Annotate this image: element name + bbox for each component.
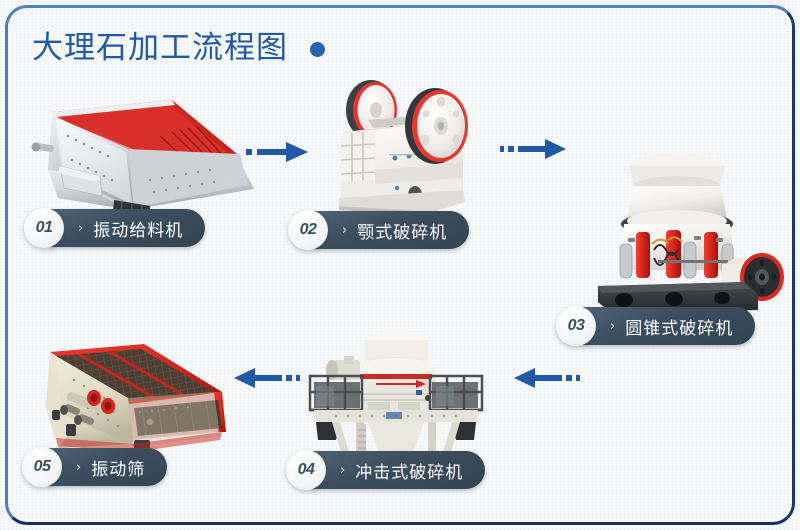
badge-step-05[interactable]: 05 › 振动筛 xyxy=(22,448,167,486)
badge-number-04: 04 xyxy=(286,450,326,490)
badge-label-05-container: › 振动筛 xyxy=(48,448,167,486)
machine-cone-crusher xyxy=(562,152,790,314)
badge-label-03: 圆锥式破碎机 xyxy=(625,314,733,339)
flowchart-canvas: 大理石加工流程图 xyxy=(0,0,800,530)
badge-label-04-container: › 冲击式破碎机 xyxy=(312,451,485,489)
chevron-right-icon: › xyxy=(342,224,348,237)
badge-label-01: 振动给料机 xyxy=(93,216,183,241)
machine-jaw-crusher xyxy=(313,70,488,215)
chevron-right-icon: › xyxy=(610,320,616,333)
chevron-right-icon: › xyxy=(78,222,84,235)
badge-step-01[interactable]: 01 › 振动给料机 xyxy=(24,209,205,247)
badge-number-05: 05 xyxy=(22,447,62,487)
badge-label-01-container: › 振动给料机 xyxy=(50,209,205,247)
arrow-step3-to-step4 xyxy=(508,365,580,396)
badge-label-05: 振动筛 xyxy=(91,455,145,480)
chevron-right-icon: › xyxy=(340,464,346,477)
arrow-step2-to-step3 xyxy=(500,136,572,167)
badge-number-03: 03 xyxy=(556,306,596,346)
badge-number-01: 01 xyxy=(24,208,64,248)
badge-step-04[interactable]: 04 › 冲击式破碎机 xyxy=(286,451,485,489)
badge-step-03[interactable]: 03 › 圆锥式破碎机 xyxy=(556,307,755,345)
arrow-step4-to-step5 xyxy=(228,365,300,396)
page-title: 大理石加工流程图 xyxy=(32,22,288,67)
badge-number-02: 02 xyxy=(288,210,328,250)
badge-label-02: 颚式破碎机 xyxy=(357,218,447,243)
arrow-step1-to-step2 xyxy=(246,139,314,170)
badge-label-03-container: › 圆锥式破碎机 xyxy=(582,307,755,345)
badge-label-02-container: › 颚式破碎机 xyxy=(314,211,469,249)
page-header: 大理石加工流程图 xyxy=(32,22,325,67)
machine-vibrating-feeder xyxy=(22,92,257,217)
badge-step-02[interactable]: 02 › 颚式破碎机 xyxy=(288,211,469,249)
badge-label-04: 冲击式破碎机 xyxy=(355,458,463,483)
machine-impact-crusher xyxy=(296,330,496,470)
title-dot-icon xyxy=(310,42,325,57)
chevron-right-icon: › xyxy=(76,461,82,474)
machine-vibrating-screen xyxy=(22,340,242,462)
